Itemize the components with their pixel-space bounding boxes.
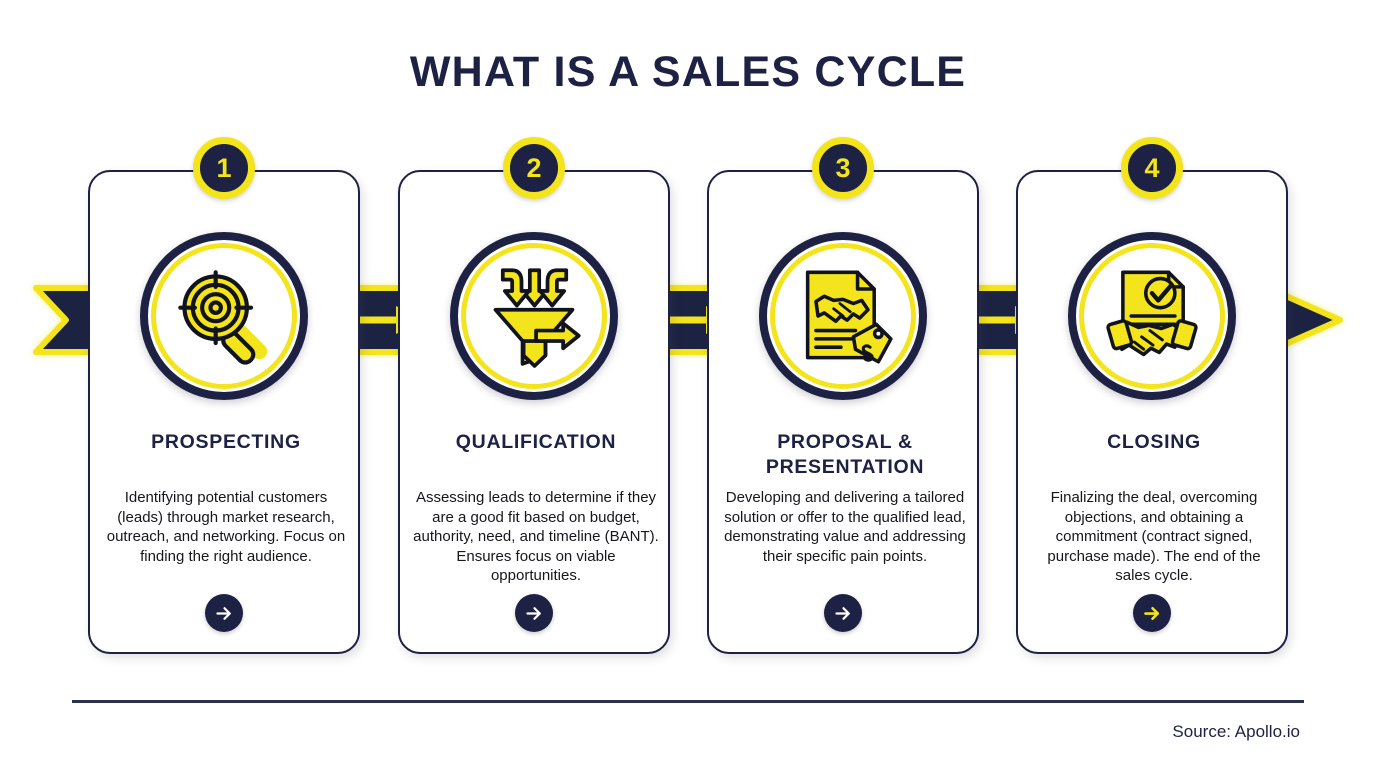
magnifier-target-icon — [172, 264, 276, 368]
step-number: 4 — [1144, 155, 1159, 182]
step-title: CLOSING — [1028, 430, 1280, 455]
signed-contract-handshake-icon — [1100, 264, 1204, 368]
step-number: 3 — [835, 155, 850, 182]
next-step-button-3[interactable] — [824, 594, 862, 632]
footer-divider — [72, 700, 1304, 703]
step-description: Developing and delivering a tailored sol… — [721, 488, 969, 566]
step-badge-1: 1 — [193, 137, 255, 199]
step-description: Finalizing the deal, overcoming objectio… — [1030, 488, 1278, 586]
step-card-proposal-presentation[interactable]: 3 — [707, 170, 979, 654]
sales-cycle-infographic: WHAT IS A SALES CYCLE 1 — [0, 0, 1376, 768]
funnel-filter-icon — [482, 264, 586, 368]
step-card-closing[interactable]: 4 — [1016, 170, 1288, 654]
next-step-button-1[interactable] — [205, 594, 243, 632]
step-card-prospecting[interactable]: 1 PROSPECTING — [88, 170, 360, 654]
step-icon-container-2 — [450, 232, 618, 400]
step-title: PROSPECTING — [100, 430, 352, 455]
source-attribution: Source: Apollo.io — [1172, 722, 1300, 742]
step-card-qualification[interactable]: 2 QUALIFICATION Assessing leads to — [398, 170, 670, 654]
document-handshake-pricetag-icon — [791, 264, 895, 368]
next-step-button-2[interactable] — [515, 594, 553, 632]
step-number: 1 — [216, 155, 231, 182]
step-badge-3: 3 — [812, 137, 874, 199]
step-icon-container-3 — [759, 232, 927, 400]
step-title: PROPOSAL & PRESENTATION — [719, 430, 971, 481]
step-badge-2: 2 — [503, 137, 565, 199]
step-icon-container-4 — [1068, 232, 1236, 400]
arrow-right-icon — [524, 603, 545, 624]
step-number: 2 — [526, 155, 541, 182]
step-title: QUALIFICATION — [410, 430, 662, 455]
arrow-right-icon — [214, 603, 235, 624]
arrow-right-icon — [833, 603, 854, 624]
step-description: Assessing leads to determine if they are… — [412, 488, 660, 586]
page-title: WHAT IS A SALES CYCLE — [0, 48, 1376, 97]
step-icon-container-1 — [140, 232, 308, 400]
arrow-right-icon — [1142, 603, 1163, 624]
step-badge-4: 4 — [1121, 137, 1183, 199]
next-step-button-4[interactable] — [1133, 594, 1171, 632]
step-description: Identifying potential customers (leads) … — [102, 488, 350, 566]
